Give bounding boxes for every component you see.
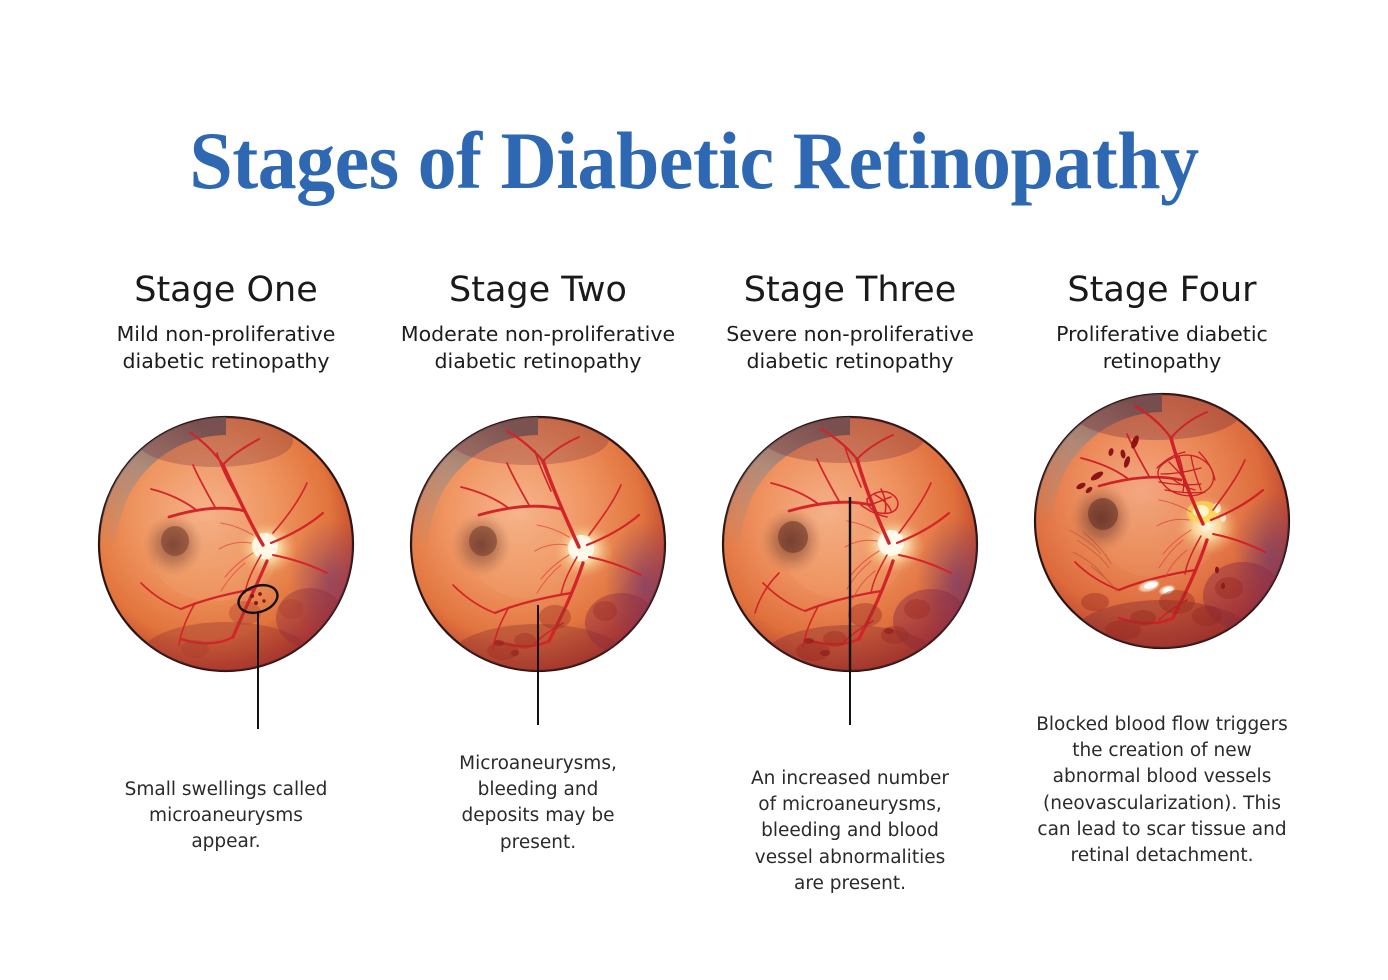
- retina-fundus-stage-one: [95, 413, 357, 675]
- stage-three-caption: An increased number of microaneurysms, b…: [751, 766, 949, 897]
- leader-line-stage-three: [849, 667, 851, 725]
- retina-illustration-three: [719, 413, 981, 675]
- stage-column-four: Stage Four Proliferative diabetic retino…: [1006, 272, 1318, 869]
- retina-illustration-four: [1031, 390, 1293, 652]
- stages-row: Stage One Mild non-proliferative diabeti…: [70, 272, 1320, 897]
- stage-one-caption: Small swellings called microaneurysms ap…: [125, 777, 328, 856]
- stage-four-title: Stage Four: [1067, 272, 1256, 309]
- stage-four-caption: Blocked blood flow triggers the creation…: [1028, 712, 1296, 870]
- page-title: Stages of Diabetic Retinopathy: [35, 120, 1354, 202]
- stage-three-title: Stage Three: [744, 272, 957, 309]
- stage-column-one: Stage One Mild non-proliferative diabeti…: [70, 272, 382, 856]
- leader-line-stage-one: [257, 611, 259, 729]
- stage-two-subtitle: Moderate non-proliferative diabetic reti…: [388, 321, 688, 375]
- leader-line-stage-two: [537, 605, 539, 725]
- stage-three-subtitle: Severe non-proliferative diabetic retino…: [700, 321, 1000, 375]
- stage-column-two: Stage Two Moderate non-proliferative dia…: [382, 272, 694, 856]
- retina-fundus-stage-two: [407, 413, 669, 675]
- retina-fundus-stage-four: [1031, 390, 1293, 652]
- infographic-poster: Stages of Diabetic Retinopathy Stage One…: [0, 0, 1388, 980]
- retina-illustration-one: [95, 413, 357, 675]
- stage-two-title: Stage Two: [449, 272, 627, 309]
- stage-four-subtitle: Proliferative diabetic retinopathy: [1012, 321, 1312, 375]
- stage-column-three: Stage Three Severe non-proliferative dia…: [694, 272, 1006, 897]
- stage-two-caption: Microaneurysms, bleeding and deposits ma…: [459, 751, 617, 856]
- stage-one-subtitle: Mild non-proliferative diabetic retinopa…: [76, 321, 376, 375]
- stage-one-title: Stage One: [134, 272, 318, 309]
- retina-fundus-stage-three: [719, 413, 981, 675]
